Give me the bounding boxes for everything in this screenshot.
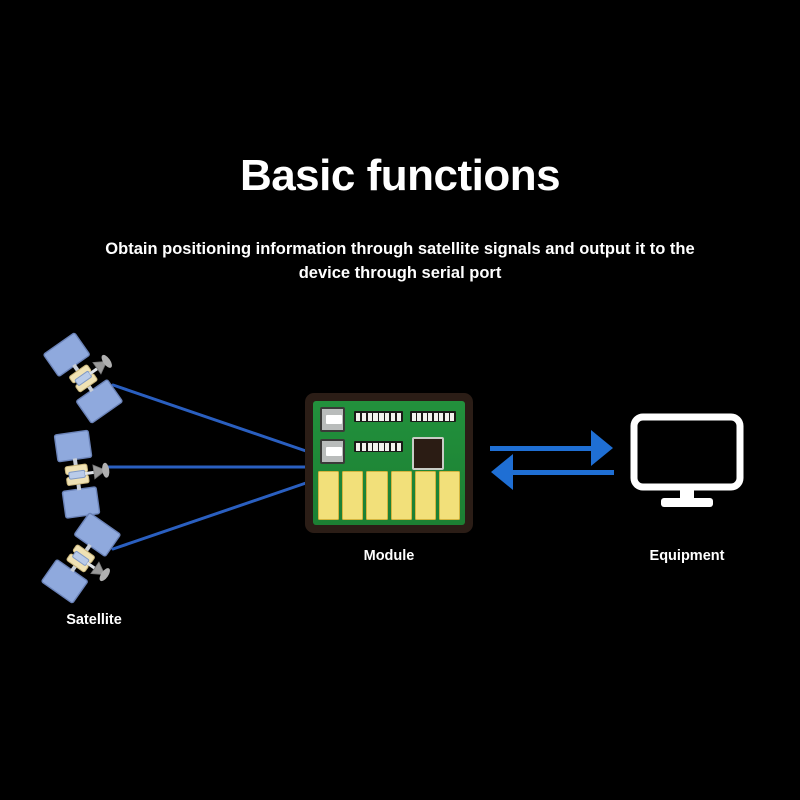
gold-finger xyxy=(318,471,339,520)
gold-finger xyxy=(391,471,412,520)
slide-canvas: Basic functions Obtain positioning infor… xyxy=(0,0,800,800)
resistor-array-top-left xyxy=(354,411,403,422)
gold-finger xyxy=(366,471,387,520)
connector-jack-lower-icon xyxy=(320,439,345,464)
equipment-label: Equipment xyxy=(617,548,757,564)
pcb-module-icon[interactable] xyxy=(305,393,473,533)
resistor-array-top-right xyxy=(410,411,456,422)
satellite-label: Satellite xyxy=(24,612,164,628)
module-label: Module xyxy=(319,548,459,564)
connector-jack-upper-icon xyxy=(320,407,345,432)
pcb-surface xyxy=(313,401,465,525)
gold-finger-group xyxy=(318,471,460,520)
gold-finger xyxy=(415,471,436,520)
gold-finger xyxy=(439,471,460,520)
serial-arrow-group xyxy=(487,418,617,500)
monitor-screen-outline xyxy=(634,417,740,487)
monitor-stand-base xyxy=(661,498,713,507)
diagram-stage: Module Equipment Satellite xyxy=(0,0,800,800)
satellite-icon-bottom[interactable] xyxy=(26,508,136,608)
satellite-icon-top[interactable] xyxy=(28,328,138,428)
solar-panel-upper xyxy=(54,430,91,461)
satellite-dish-rim xyxy=(101,462,110,478)
resistor-array-middle-left xyxy=(354,441,403,452)
satellite-beam-top-line xyxy=(113,385,306,451)
satellite-body xyxy=(69,470,86,479)
gold-finger xyxy=(342,471,363,520)
satellite-beam-bottom-line xyxy=(113,483,306,549)
monitor-icon[interactable] xyxy=(628,412,746,512)
ic-chip-icon xyxy=(412,437,444,470)
